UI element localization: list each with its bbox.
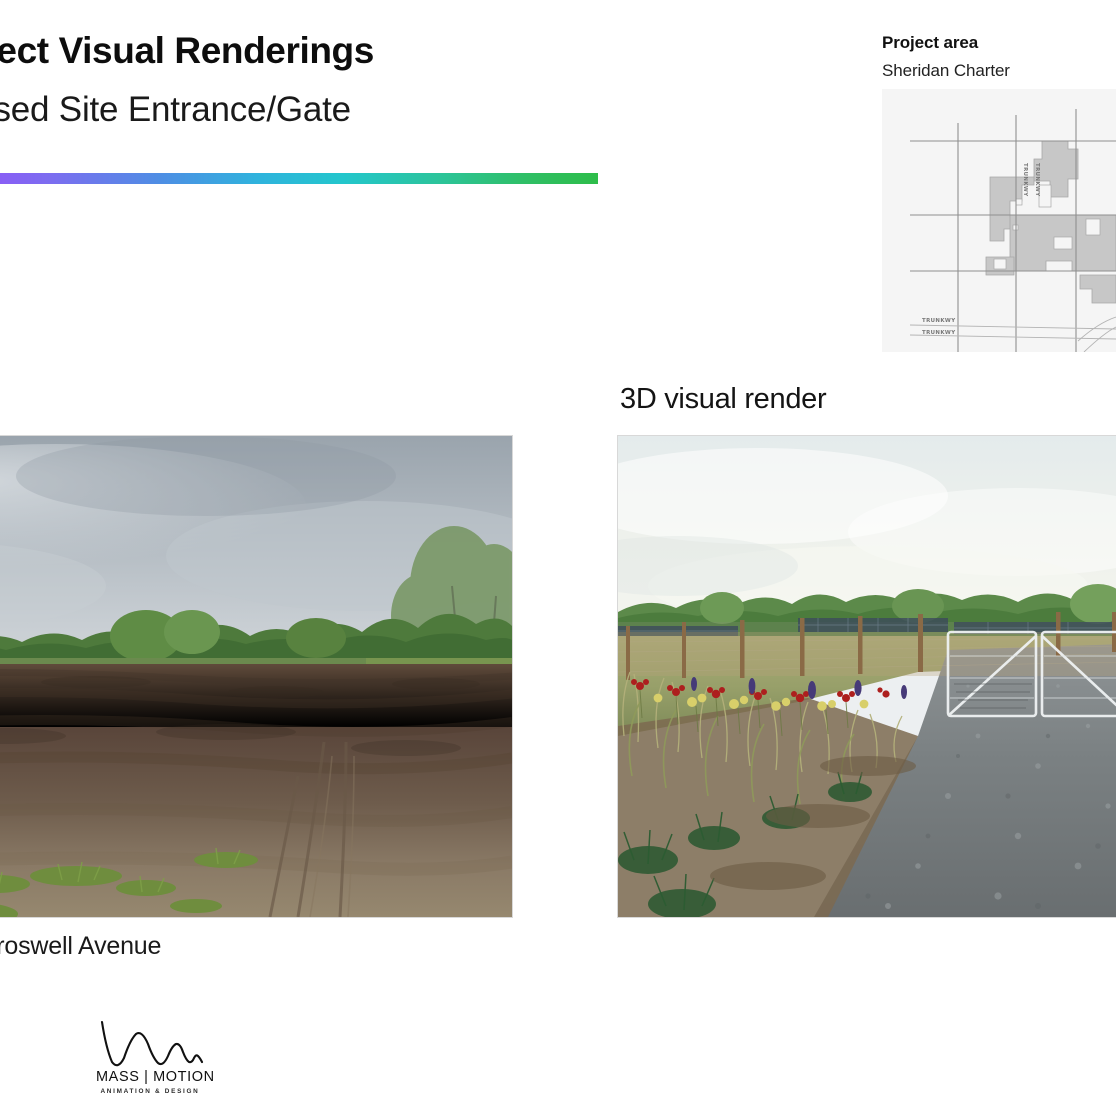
page-subtitle: f Proposed Site Entrance/Gate: [0, 90, 522, 130]
heading-3d-visual-render: 3D visual render: [620, 383, 826, 416]
3d-visual-render-image: [618, 436, 1116, 917]
project-area-map[interactable]: TRUNKWY TRUNKWY TRUNKWY TRUNKWY: [882, 89, 1116, 352]
page-title: ar Project Visual Renderings: [0, 30, 522, 71]
photo-caption: est from Croswell Avenue: [0, 932, 161, 961]
gradient-divider: [0, 173, 598, 184]
wave-mark-icon: [96, 1018, 204, 1068]
map-road-label: TRUNKWY: [922, 318, 956, 324]
mass-motion-tagline: ANIMATION & DESIGN: [96, 1088, 204, 1095]
map-road-label: TRUNKWY: [922, 330, 956, 336]
project-area-title: Project area: [882, 33, 1116, 53]
3d-visual-render[interactable]: [617, 435, 1116, 918]
presentation-slide: ar Project Visual Renderings f Proposed …: [0, 0, 1116, 1116]
project-area-subtitle: Sheridan Charter: [882, 61, 1116, 81]
map-graphic: TRUNKWY TRUNKWY TRUNKWY TRUNKWY: [882, 89, 1116, 352]
existing-photograph[interactable]: [0, 435, 513, 918]
existing-photograph-image: [0, 436, 512, 917]
mass-motion-logo: MASS | MOTION ANIMATION & DESIGN: [96, 1018, 204, 1095]
title-block: ar Project Visual Renderings f Proposed …: [0, 30, 522, 131]
map-road-label: TRUNKWY: [1034, 163, 1040, 197]
map-road-label: TRUNKWY: [1022, 163, 1028, 197]
project-area-panel: Project area Sheridan Charter: [882, 33, 1116, 352]
mass-motion-wordmark: MASS | MOTION: [96, 1069, 204, 1085]
